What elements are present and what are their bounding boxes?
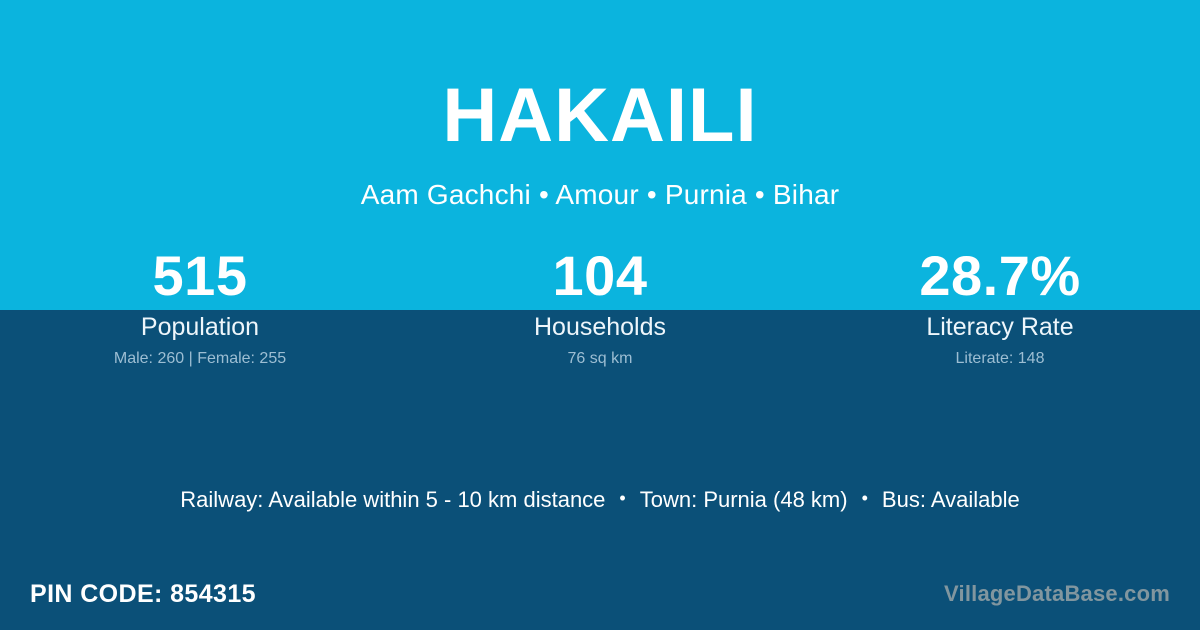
- brand-watermark: VillageDataBase.com: [944, 581, 1170, 607]
- stat-value: 104: [400, 246, 800, 306]
- stat-sublabel: Male: 260 | Female: 255: [0, 350, 400, 368]
- infrastructure-bus: Bus: Available: [882, 485, 1020, 515]
- infrastructure-railway: Railway: Available within 5 - 10 km dist…: [180, 485, 605, 515]
- stat-sublabel: 76 sq km: [400, 350, 800, 368]
- infrastructure-row: Railway: Available within 5 - 10 km dist…: [0, 485, 1200, 515]
- pin-code: PIN CODE: 854315: [30, 580, 256, 609]
- stat-sublabel: Literate: 148: [800, 350, 1200, 368]
- stat-households: 104 Households 76 sq km: [400, 246, 800, 368]
- infrastructure-town: Town: Purnia (48 km): [640, 485, 848, 515]
- stat-label: Population: [0, 313, 400, 341]
- card-footer: PIN CODE: 854315 VillageDataBase.com: [0, 558, 1200, 630]
- bullet-separator-icon: •: [619, 483, 625, 513]
- stats-row: 515 Population Male: 260 | Female: 255 1…: [0, 246, 1200, 368]
- page-title: HAKAILI: [0, 78, 1200, 154]
- stat-value: 515: [0, 246, 400, 306]
- stat-population: 515 Population Male: 260 | Female: 255: [0, 246, 400, 368]
- stat-label: Households: [400, 313, 800, 341]
- bullet-separator-icon: •: [862, 483, 868, 513]
- card-header: HAKAILI Aam Gachchi • Amour • Purnia • B…: [0, 0, 1200, 209]
- stat-value: 28.7%: [800, 246, 1200, 306]
- stat-literacy-rate: 28.7% Literacy Rate Literate: 148: [800, 246, 1200, 368]
- breadcrumb: Aam Gachchi • Amour • Purnia • Bihar: [0, 181, 1200, 209]
- village-info-card: HAKAILI Aam Gachchi • Amour • Purnia • B…: [0, 0, 1200, 630]
- stat-label: Literacy Rate: [800, 313, 1200, 341]
